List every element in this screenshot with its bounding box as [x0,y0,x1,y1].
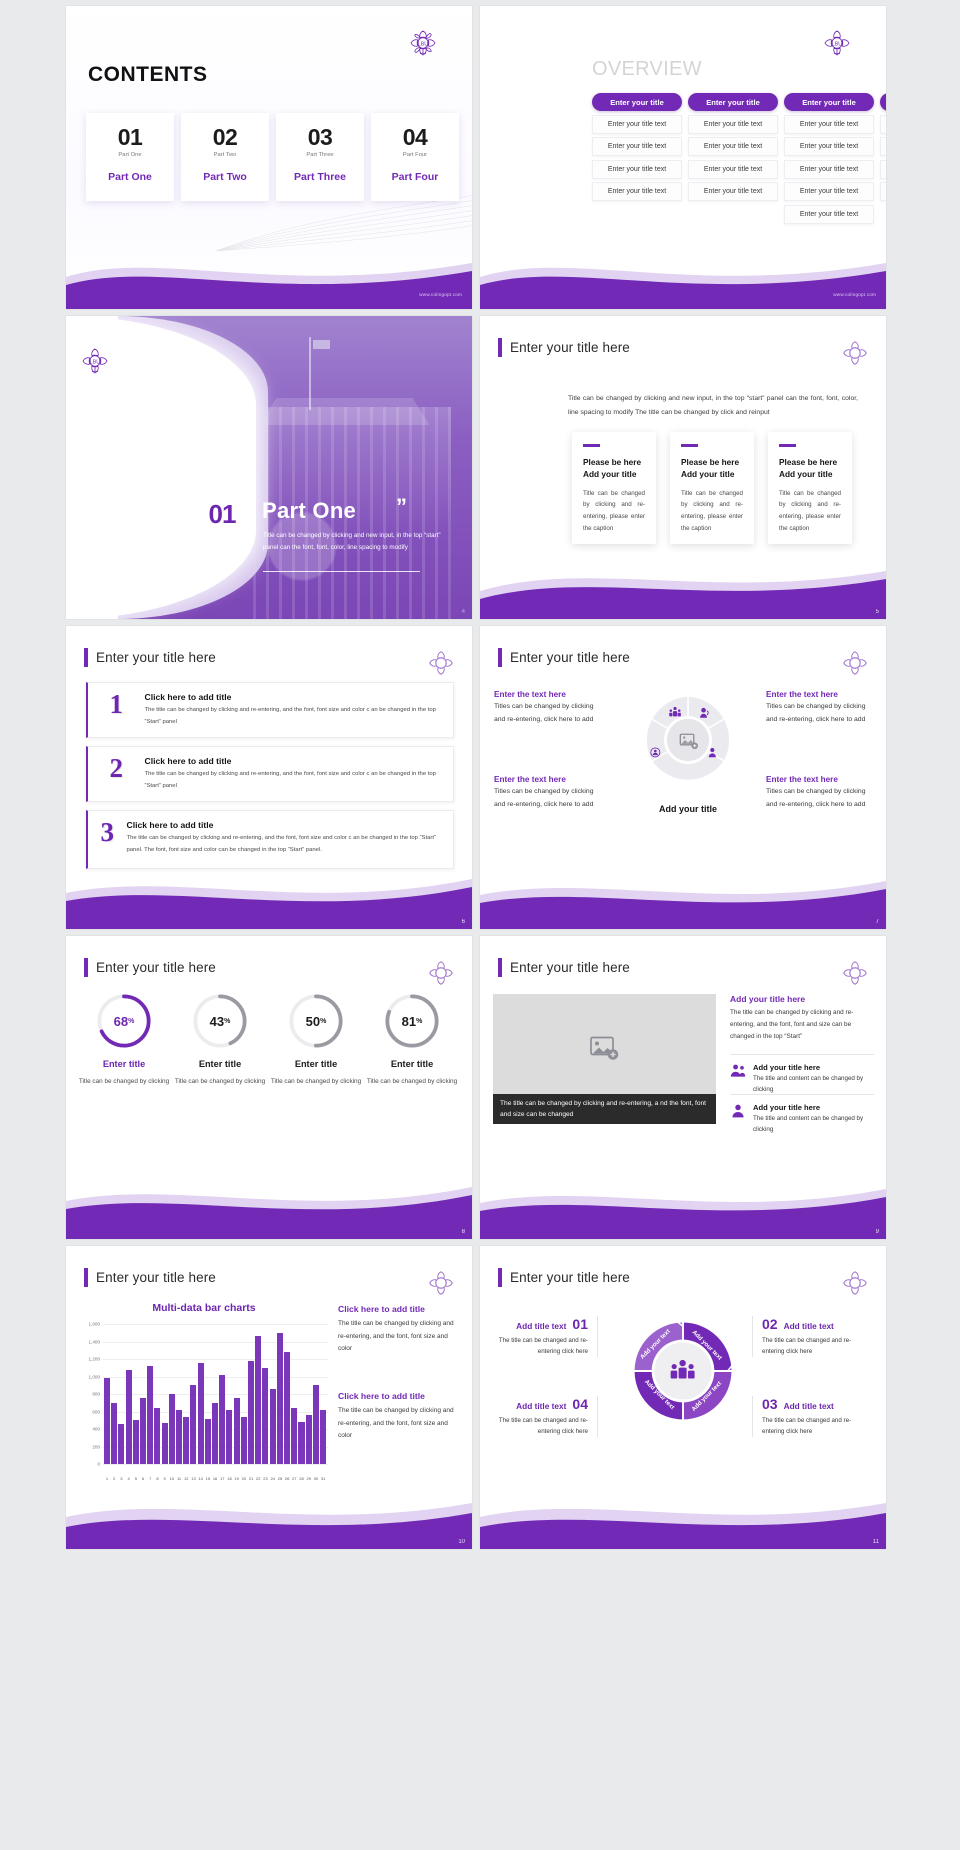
x-tick-label: 3 [118,1476,124,1481]
bar-series [104,1324,326,1464]
cycle-quadrant[interactable]: 02 Add title text The title can be chang… [752,1316,856,1357]
overview-cell[interactable]: Enter your title text [784,182,874,201]
x-tick-label: 12 [183,1476,189,1481]
footer-wave [480,247,886,309]
slide-image-and-list[interactable]: Enter your title here The [480,936,886,1239]
bar [140,1398,146,1465]
lbu-logo-icon [426,648,456,678]
page-title: Enter your title here [498,648,630,667]
side-block-body: The title can be changed by clicking and… [338,1318,460,1356]
slide-section-cover[interactable]: LBU 01 Part One ” Title can be changed b… [66,316,472,619]
block-body: Titles can be changed by clicking and re… [766,786,872,811]
contents-card[interactable]: 03 Part Three Part Three [276,113,364,201]
donut-value: 50 [306,1014,320,1029]
list-item-body: The title and content can be changed by … [753,1114,874,1136]
overview-column: Enter your title Enter your title text E… [784,93,874,224]
bar [111,1403,117,1464]
card-body: Title can be changed by clicking and re-… [779,488,841,535]
x-tick-label: 10 [169,1476,175,1481]
cycle-wheel: Add your text Add your text Add your tex… [626,1314,740,1428]
donut-caption: Enter title [268,1059,364,1069]
y-tick-label: 800 [80,1392,100,1397]
segment-wheel-diagram [640,692,736,788]
y-tick-label: 600 [80,1409,100,1414]
contents-card[interactable]: 02 Part Two Part Two [181,113,269,201]
x-tick-label: 16 [212,1476,218,1481]
card-number: 03 [276,126,364,149]
quadrant-number: 04 [572,1396,588,1412]
page-number: 4 [462,609,465,615]
users-icon [730,1063,746,1096]
contents-card[interactable]: 01 Part One Part One [86,113,174,201]
donut-unit: % [128,1018,134,1025]
overview-cell[interactable]: Enter your title text [592,160,682,179]
y-tick-label: 1,000 [80,1374,100,1379]
column-title-pill[interactable]: Enter your title [592,93,682,111]
donut-subtext: Title can be changed by clicking [268,1076,364,1088]
lead-paragraph: Title can be changed by clicking and new… [568,392,858,421]
donut-unit: % [416,1018,422,1025]
donut-caption: Enter title [76,1059,172,1069]
y-tick-label: 1,600 [80,1322,100,1327]
y-tick-label: 1,200 [80,1357,100,1362]
donut-ring: 68% [95,992,153,1050]
slide-numbered-list[interactable]: Enter your title here 1 Click here to ad… [66,626,472,929]
donut-unit: % [320,1018,326,1025]
page-number: 10 [458,1539,465,1545]
quadrant-body: The title can be changed and re-entering… [762,1415,856,1437]
section-number-badge: 01 [196,496,248,545]
card-title-line1: Please be here [779,457,837,467]
x-tick-label: 8 [154,1476,160,1481]
donut-stat[interactable]: 50% Enter title Title can be changed by … [268,992,364,1088]
row-title: Click here to add title [144,692,441,702]
x-tick-label: 20 [241,1476,247,1481]
info-card[interactable]: Please be here Add your title Title can … [768,432,852,544]
divider [263,571,420,572]
x-tick-label: 26 [284,1476,290,1481]
x-tick-label: 23 [262,1476,268,1481]
donut-subtext: Title can be changed by clicking [172,1076,268,1088]
x-tick-label: 22 [255,1476,261,1481]
footer-wave [66,1177,472,1239]
block-title: Enter the text here [766,775,872,784]
info-card[interactable]: Please be here Add your title Title can … [572,432,656,544]
card-label: Part Three [276,171,364,183]
lbu-logo-icon [840,648,870,678]
accent-dash [681,444,698,447]
wheel-text-block[interactable]: Enter the text here Titles can be change… [494,690,600,726]
row-number: 2 [88,756,144,782]
page-number: 5 [876,609,879,615]
donut-value: 68 [114,1014,128,1029]
overview-column: Enter your title Enter your title text E… [592,93,682,224]
quadrant-body: The title can be changed and re-entering… [494,1335,588,1357]
bar [176,1410,182,1464]
card-body: Title can be changed by clicking and re-… [583,488,645,535]
quadrant-title: Add title text [784,1401,834,1411]
slide-percent-donuts[interactable]: Enter your title here 68% Enter title Ti… [66,936,472,1239]
footer-wave [66,1487,472,1549]
lbu-logo-icon [840,338,870,368]
bar [298,1422,304,1464]
numbered-row[interactable]: 1 Click here to add title The title can … [86,682,454,738]
donut-subtext: Title can be changed by clicking [364,1076,460,1088]
bar [169,1394,175,1464]
footer-website: www.colingopt.com [833,292,876,297]
bar [198,1363,204,1465]
x-tick-label: 17 [219,1476,225,1481]
card-label: Part Two [181,171,269,183]
bar [270,1389,276,1464]
card-number: 02 [181,126,269,149]
page-title-text: Enter your title here [96,1270,216,1285]
quadrant-title: Add title text [784,1321,834,1331]
column-title-pill[interactable]: Enter your title [784,93,874,111]
section-title: Part One [262,498,356,524]
cycle-quadrant[interactable]: 03 Add title text The title can be chang… [752,1396,856,1437]
bar [241,1417,247,1464]
list-item-title: Add your title here [753,1103,874,1112]
page-title: Enter your title here [498,1268,630,1287]
bar [147,1366,153,1464]
quadrant-number: 02 [762,1316,778,1332]
wheel-text-block[interactable]: Enter the text here Titles can be change… [766,690,872,726]
donut-ring: 50% [287,992,345,1050]
overview-cell[interactable]: Enter your title text [592,115,682,134]
block-title: Enter the text here [494,775,600,784]
wheel-text-block[interactable]: Enter the text here Titles can be change… [494,775,600,811]
x-tick-label: 27 [291,1476,297,1481]
numbered-row-list: 1 Click here to add title The title can … [86,682,454,877]
bar [320,1410,326,1464]
section-description: Title can be changed by clicking and new… [263,530,443,553]
y-tick-label: 200 [80,1444,100,1449]
x-tick-label: 11 [176,1476,182,1481]
side-block-body: The title can be changed by clicking and… [338,1405,460,1443]
card-list: Please be here Add your title Title can … [572,432,852,544]
x-tick-label: 2 [111,1476,117,1481]
footer-wave [480,1177,886,1239]
block-body: Titles can be changed by clicking and re… [494,701,600,726]
bar [248,1361,254,1464]
side-block[interactable]: Click here to add title The title can be… [338,1391,460,1443]
x-tick-label: 21 [248,1476,254,1481]
page-title: Enter your title here [84,1268,216,1287]
svg-text:LBU: LBU [832,41,842,47]
bar [234,1398,240,1465]
donut-stat[interactable]: 43% Enter title Title can be changed by … [172,992,268,1088]
add-image-icon [590,1036,620,1067]
x-tick-label: 9 [162,1476,168,1481]
bar [104,1378,110,1464]
block-body: Titles can be changed by clicking and re… [494,786,600,811]
bar [262,1368,268,1464]
overview-cell[interactable]: Enter your title text [880,160,886,179]
cycle-quadrant[interactable]: Add title text 01 The title can be chang… [494,1316,598,1357]
lbu-logo-icon [840,1268,870,1298]
contents-card[interactable]: 04 Part Four Part Four [371,113,459,201]
footer-wave [66,247,472,309]
bar [183,1417,189,1464]
svg-text:LBU: LBU [90,359,100,365]
overview-cell[interactable]: Enter your title text [592,137,682,156]
donut-ring: 81% [383,992,441,1050]
overview-cell[interactable]: Enter your title text [784,115,874,134]
lbu-logo-icon: LBU [408,28,438,58]
overview-cell[interactable]: Enter your title text [880,115,886,134]
side-block-title: Click here to add title [338,1304,460,1314]
bar [162,1423,168,1464]
x-tick-label: 24 [270,1476,276,1481]
bar [219,1375,225,1464]
list-item-body: The title and content can be changed by … [753,1074,874,1096]
numbered-row[interactable]: 3 Click here to add title The title can … [86,810,454,869]
accent-dash [583,444,600,447]
x-axis: 1234567891011121314151617181920212223242… [104,1476,326,1481]
donut-stat[interactable]: 68% Enter title Title can be changed by … [76,992,172,1088]
x-tick-label: 5 [133,1476,139,1481]
page-title: Enter your title here [84,648,216,667]
block-title: Enter the text here [494,690,600,699]
slide-overview[interactable]: LBU OVERVIEW Enter your title Enter your… [480,6,886,309]
x-tick-label: 19 [234,1476,240,1481]
card-title-line2: Add your title [681,469,734,479]
card-number: 04 [371,126,459,149]
donut-value: 43 [210,1014,224,1029]
page-title-text: Enter your title here [510,340,630,355]
donut-value: 81 [402,1014,416,1029]
page-title: Enter your title here [498,958,630,977]
chart-plot-area: 02004006008001,0001,2001,4001,600 123456… [80,1324,328,1464]
overview-column: Enter your title Enter your title text E… [880,93,886,224]
wheel-center-label: Add your title [640,804,736,814]
side-head-title: Add your title here [730,994,874,1004]
list-item[interactable]: Add your title here The title and conten… [730,1094,874,1136]
column-title-pill[interactable]: Enter your title [688,93,778,111]
donut-ring: 43% [191,992,249,1050]
slide-cycle-diagram[interactable]: Enter your title here [480,1246,886,1549]
page-number: 11 [873,1539,879,1545]
card-number: 01 [86,126,174,149]
x-tick-label: 1 [104,1476,110,1481]
slide-segment-wheel[interactable]: Enter your title here Enter the text her… [480,626,886,929]
block-title: Enter the text here [766,690,872,699]
row-body: The title can be changed by clicking and… [127,833,442,856]
contents-card-list: 01 Part One Part One 02 Part Two Part Tw… [86,113,459,201]
quadrant-title: Add title text [516,1321,566,1331]
numbered-row[interactable]: 2 Click here to add title The title can … [86,746,454,802]
lbu-logo-icon [426,1268,456,1298]
chart-title: Multi-data bar charts [80,1302,328,1314]
footer-website: www.colingopt.com [419,292,462,297]
page-number: 6 [462,919,465,925]
overview-cell[interactable]: Enter your title text [784,160,874,179]
page-title-text: Enter your title here [510,960,630,975]
bar [306,1415,312,1464]
lbu-logo-icon: LBU [80,346,110,376]
card-title-line1: Please be here [681,457,739,467]
page-title: CONTENTS [88,63,208,87]
page-number: 7 [876,919,879,925]
card-subnote: Part Three [276,152,364,158]
block-body: Titles can be changed by clicking and re… [766,701,872,726]
overview-column: Enter your title Enter your title text E… [688,93,778,224]
quadrant-number: 01 [572,1316,588,1332]
overview-cell[interactable]: Enter your title text [784,205,874,224]
page-title: Enter your title here [498,338,630,357]
card-body: Title can be changed by clicking and re-… [681,488,743,535]
row-title: Click here to add title [144,756,441,766]
x-tick-label: 28 [298,1476,304,1481]
donut-list: 68% Enter title Title can be changed by … [76,992,460,1088]
card-subnote: Part Two [181,152,269,158]
page-number: 9 [876,1229,879,1235]
page-title-text: Enter your title here [510,1270,630,1285]
donut-caption: Enter title [172,1059,268,1069]
card-subnote: Part One [86,152,174,158]
bar [205,1419,211,1465]
wheel-text-block[interactable]: Enter the text here Titles can be change… [766,775,872,811]
x-tick-label: 29 [306,1476,312,1481]
side-head-block: Add your title here The title can be cha… [730,994,874,1044]
quote-mark-icon: ” [396,494,407,520]
card-title-line2: Add your title [583,469,636,479]
bar [226,1410,232,1464]
lbu-logo-icon [426,958,456,988]
bar [277,1333,283,1464]
card-label: Part One [86,171,174,183]
row-body: The title can be changed by clicking and… [144,769,441,792]
row-body: The title can be changed by clicking and… [144,705,441,728]
x-tick-label: 14 [198,1476,204,1481]
list-item[interactable]: Add your title here The title and conten… [730,1054,874,1096]
x-tick-label: 31 [320,1476,326,1481]
page-title: OVERVIEW [592,58,702,81]
x-tick-label: 15 [205,1476,211,1481]
bar [154,1408,160,1464]
lbu-logo-icon [840,958,870,988]
overview-cell[interactable]: Enter your title text [688,115,778,134]
slide-deck: LBU CONTENTS 01 Part One Part One 02 Pa [0,0,960,1549]
bar [313,1385,319,1464]
card-label: Part Four [371,171,459,183]
overview-cell[interactable]: Enter your title text [880,137,886,156]
donut-stat[interactable]: 81% Enter title Title can be changed by … [364,992,460,1088]
side-block[interactable]: Click here to add title The title can be… [338,1304,460,1356]
card-title-line2: Add your title [779,469,832,479]
column-title-pill[interactable]: Enter your title [880,93,886,111]
overview-cell[interactable]: Enter your title text [688,160,778,179]
list-item-title: Add your title here [753,1063,874,1072]
slide-bar-chart[interactable]: Enter your title here Multi-data bar cha… [66,1246,472,1549]
row-title: Click here to add title [127,820,442,830]
gridline [103,1464,328,1465]
overview-cell[interactable]: Enter your title text [592,182,682,201]
quadrant-body: The title can be changed and re-entering… [762,1335,856,1357]
quadrant-body: The title can be changed and re-entering… [494,1415,588,1437]
overview-cell[interactable]: Enter your title text [784,137,874,156]
x-tick-label: 18 [226,1476,232,1481]
y-tick-label: 0 [80,1462,100,1467]
bar [212,1403,218,1464]
page-title-text: Enter your title here [96,960,216,975]
y-tick-label: 400 [80,1427,100,1432]
slide-contents[interactable]: LBU CONTENTS 01 Part One Part One 02 Pa [66,6,472,309]
quadrant-number: 03 [762,1396,778,1412]
donut-subtext: Title can be changed by clicking [76,1076,172,1088]
bar [190,1385,196,1464]
footer-wave [480,1487,886,1549]
image-caption: The title can be changed by clicking and… [493,1094,716,1124]
x-tick-label: 4 [126,1476,132,1481]
overview-cell[interactable]: Enter your title text [880,182,886,201]
overview-cell[interactable]: Enter your title text [688,182,778,201]
user-icon [730,1103,746,1136]
x-tick-label: 25 [277,1476,283,1481]
page-title-text: Enter your title here [510,650,630,665]
x-tick-label: 7 [147,1476,153,1481]
card-title-line1: Please be here [583,457,641,467]
page-number: 8 [462,1229,465,1235]
bar [133,1420,139,1464]
donut-caption: Enter title [364,1059,460,1069]
x-tick-label: 13 [190,1476,196,1481]
svg-text:LBU: LBU [418,41,428,47]
bar [118,1424,124,1464]
bar-chart: Multi-data bar charts 02004006008001,000… [80,1302,328,1492]
footer-wave [480,557,886,619]
bar [255,1336,261,1464]
lbu-logo-icon: LBU [822,28,852,58]
row-number: 1 [88,692,144,718]
cycle-quadrant[interactable]: Add title text 04 The title can be chang… [494,1396,598,1437]
row-number: 3 [88,820,127,846]
page-title: Enter your title here [84,958,216,977]
y-tick-label: 1,400 [80,1339,100,1344]
quadrant-title: Add title text [516,1401,566,1411]
bar [284,1352,290,1464]
page-title-text: Enter your title here [96,650,216,665]
side-head-body: The title can be changed by clicking and… [730,1007,874,1044]
card-subnote: Part Four [371,152,459,158]
x-tick-label: 30 [313,1476,319,1481]
bar [126,1370,132,1465]
x-tick-label: 6 [140,1476,146,1481]
accent-dash [779,444,796,447]
footer-wave [66,867,472,929]
section-number: 01 [196,496,248,534]
overview-cell[interactable]: Enter your title text [688,137,778,156]
slide-three-cards[interactable]: Enter your title here Title can be chang… [480,316,886,619]
side-block-title: Click here to add title [338,1391,460,1401]
info-card[interactable]: Please be here Add your title Title can … [670,432,754,544]
bar [291,1408,297,1464]
overview-columns: Enter your title Enter your title text E… [592,93,886,224]
footer-wave [480,867,886,929]
donut-unit: % [224,1018,230,1025]
